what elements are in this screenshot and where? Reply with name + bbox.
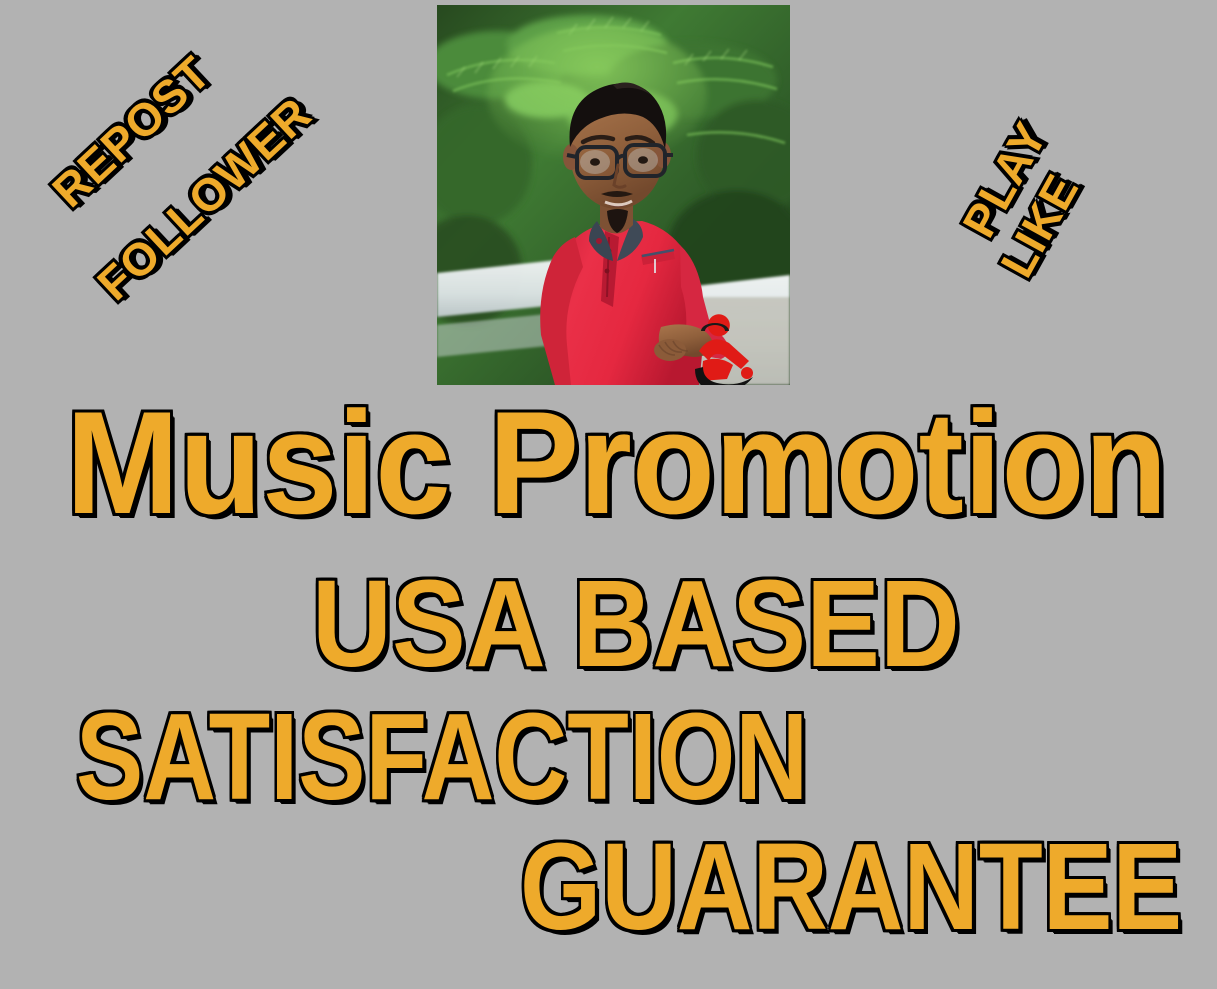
- promotion-poster: REPOST FOLLOWER PLAY LIKE Music Promotio…: [0, 0, 1217, 989]
- poster-title: Music Promotion: [66, 390, 1167, 536]
- photo-illustration: [437, 5, 790, 385]
- poster-line-usa-based: USA BASED: [312, 563, 960, 686]
- poster-line-satisfaction: SATISFACTION: [76, 696, 808, 819]
- profile-photo: [437, 5, 790, 385]
- poster-line-guarantee: GUARANTEE: [520, 826, 1182, 949]
